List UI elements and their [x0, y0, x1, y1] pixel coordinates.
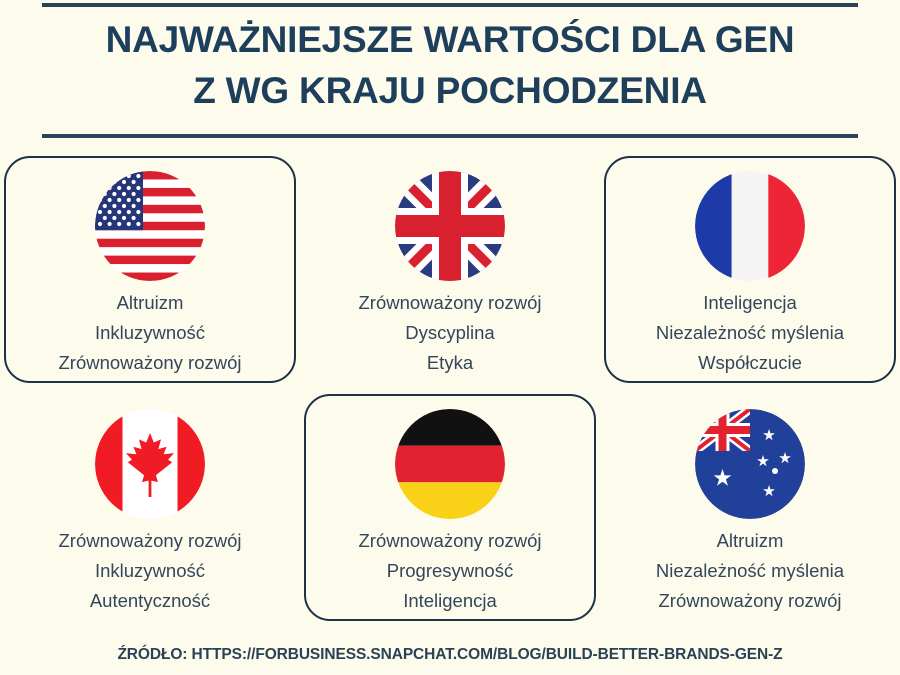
country-values-united-kingdom: Zrównoważony rozwój Dyscyplina Etyka	[358, 288, 541, 378]
value-item: Dyscyplina	[358, 318, 541, 348]
country-values-canada: Zrównoważony rozwój Inkluzywność Autenty…	[58, 526, 241, 616]
country-card-united-kingdom[interactable]: Zrównoważony rozwój Dyscyplina Etyka	[304, 156, 596, 383]
country-card-canada[interactable]: Zrównoważony rozwój Inkluzywność Autenty…	[4, 394, 296, 621]
value-item: Autentyczność	[58, 586, 241, 616]
country-values-australia: Altruizm Niezależność myślenia Zrównoważ…	[656, 526, 844, 616]
value-item: Zrównoważony rozwój	[656, 586, 844, 616]
value-item: Inteligencja	[358, 586, 541, 616]
country-values-france: Inteligencja Niezależność myślenia Współ…	[656, 288, 844, 378]
source-attribution: ŹRÓDŁO: HTTPS://FORBUSINESS.SNAPCHAT.COM…	[0, 646, 900, 664]
header-rule-bottom	[42, 134, 858, 138]
country-values-germany: Zrównoważony rozwój Progresywność Inteli…	[358, 526, 541, 616]
value-item: Inteligencja	[656, 288, 844, 318]
country-cell-canada: Zrównoważony rozwój Inkluzywność Autenty…	[0, 388, 300, 623]
value-item: Inkluzywność	[58, 556, 241, 586]
value-item: Zrównoważony rozwój	[58, 348, 241, 378]
country-card-germany[interactable]: Zrównoważony rozwój Progresywność Inteli…	[304, 394, 596, 621]
infographic-page: NAJWAŻNIEJSZE WARTOŚCI DLA GEN Z WG KRAJ…	[0, 0, 900, 675]
value-item: Etyka	[358, 348, 541, 378]
value-item: Niezależność myślenia	[656, 556, 844, 586]
value-item: Progresywność	[358, 556, 541, 586]
value-item: Zrównoważony rozwój	[58, 526, 241, 556]
country-card-grid: Altruizm Inkluzywność Zrównoważony rozwó…	[0, 150, 900, 625]
header-rule-top	[42, 3, 858, 7]
flag-canada-icon	[95, 409, 205, 519]
country-cell-germany: Zrównoważony rozwój Progresywność Inteli…	[300, 388, 600, 623]
value-item: Zrównoważony rozwój	[358, 288, 541, 318]
page-title-line-2: Z WG KRAJU POCHODZENIA	[0, 65, 900, 116]
country-card-france[interactable]: Inteligencja Niezależność myślenia Współ…	[604, 156, 896, 383]
flag-uk-icon	[395, 171, 505, 281]
flag-germany-icon	[395, 409, 505, 519]
value-item: Altruizm	[58, 288, 241, 318]
page-title: NAJWAŻNIEJSZE WARTOŚCI DLA GEN Z WG KRAJ…	[0, 14, 900, 116]
country-cell-united-states: Altruizm Inkluzywność Zrównoważony rozwó…	[0, 150, 300, 385]
country-values-united-states: Altruizm Inkluzywność Zrównoważony rozwó…	[58, 288, 241, 378]
country-cell-france: Inteligencja Niezależność myślenia Współ…	[600, 150, 900, 385]
flag-usa-icon	[95, 171, 205, 281]
value-item: Altruizm	[656, 526, 844, 556]
value-item: Zrównoważony rozwój	[358, 526, 541, 556]
country-card-australia[interactable]: Altruizm Niezależność myślenia Zrównoważ…	[604, 394, 896, 621]
page-title-line-1: NAJWAŻNIEJSZE WARTOŚCI DLA GEN	[0, 14, 900, 65]
country-card-united-states[interactable]: Altruizm Inkluzywność Zrównoważony rozwó…	[4, 156, 296, 383]
value-item: Inkluzywność	[58, 318, 241, 348]
flag-france-icon	[695, 171, 805, 281]
value-item: Współczucie	[656, 348, 844, 378]
value-item: Niezależność myślenia	[656, 318, 844, 348]
country-cell-united-kingdom: Zrównoważony rozwój Dyscyplina Etyka	[300, 150, 600, 385]
flag-australia-icon	[695, 409, 805, 519]
country-cell-australia: Altruizm Niezależność myślenia Zrównoważ…	[600, 388, 900, 623]
